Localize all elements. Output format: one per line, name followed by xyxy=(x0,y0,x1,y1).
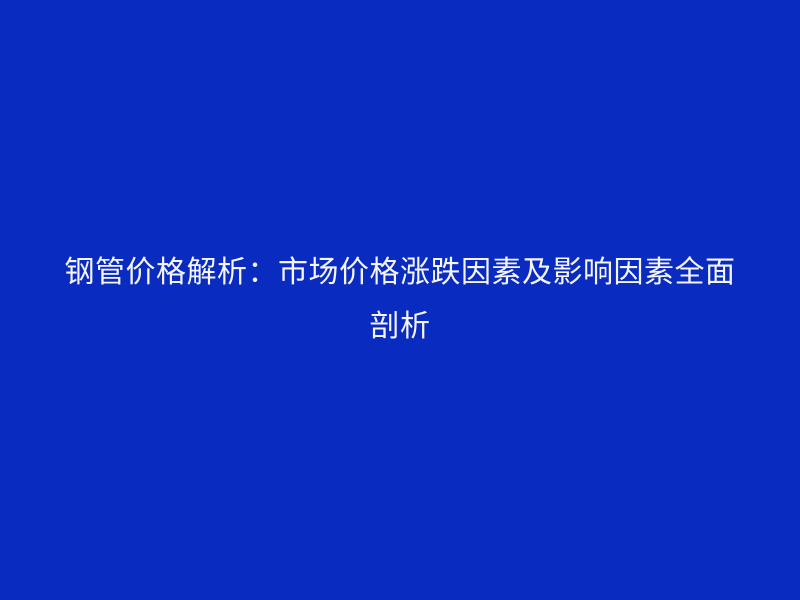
page-title: 钢管价格解析：市场价格涨跌因素及影响因素全面剖析 xyxy=(50,246,750,354)
title-block: 钢管价格解析：市场价格涨跌因素及影响因素全面剖析 xyxy=(50,246,750,354)
title-card: 钢管价格解析：市场价格涨跌因素及影响因素全面剖析 xyxy=(0,0,800,600)
